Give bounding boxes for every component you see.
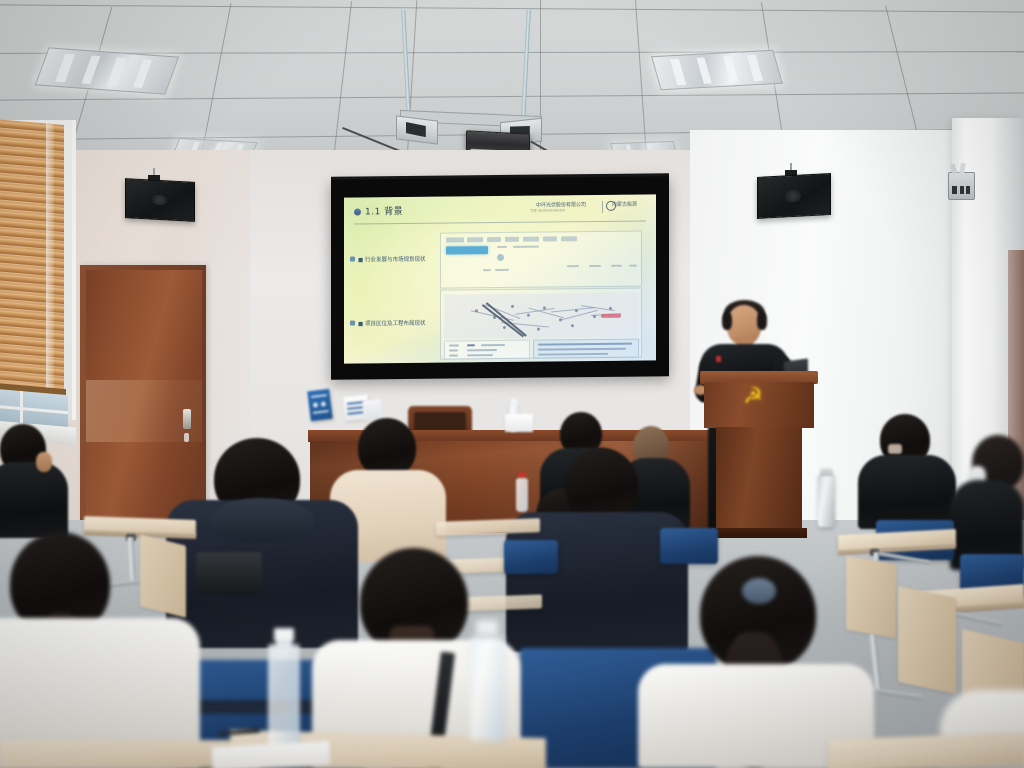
- classroom-photo-scene: 1.1 背景 中环光伏股份有限公司 TZE Semiconductor 内蒙古能…: [0, 0, 1024, 768]
- network-map-panel: [440, 288, 642, 360]
- slide-side-label-1: ■ 行业发展与市场规划现状: [358, 255, 425, 264]
- ceiling-vent-left: [396, 115, 438, 144]
- map-legend: [444, 340, 530, 360]
- presenter-hair-side-right: [757, 312, 767, 330]
- right-wall-speaker: [757, 173, 831, 219]
- wall-mounted-device: [948, 172, 975, 200]
- desk-right-modesty-panel-2: [898, 586, 956, 694]
- water-bottle-front-right: [470, 636, 504, 742]
- door-lock[interactable]: [184, 433, 189, 442]
- attendee-right-far-hairclip: [888, 444, 902, 454]
- desk-mid-left-panel: [140, 534, 186, 617]
- chair-mid-2: [504, 540, 558, 574]
- attendee-right-far-torso: [858, 455, 956, 529]
- desk-front-right: [828, 733, 1024, 768]
- bullet-dot-icon: [354, 208, 361, 215]
- slide-title: 1.1 背景: [365, 204, 403, 217]
- projected-slide: 1.1 背景 中环光伏股份有限公司 TZE Semiconductor 内蒙古能…: [344, 194, 656, 363]
- map-note-box: [533, 339, 639, 359]
- presenter-hair-side-left: [722, 312, 732, 330]
- slide-highlight-button: [446, 246, 488, 254]
- window-blinds[interactable]: [0, 119, 64, 393]
- web-ui-screenshot-panel: [440, 231, 642, 289]
- slide-logo-left-sub: TZE Semiconductor: [530, 208, 565, 212]
- map-highlight-marker: [601, 314, 621, 318]
- attendee-navy-hoodie-hood: [210, 498, 314, 542]
- chair-mid-3: [660, 528, 718, 564]
- door-handle[interactable]: [183, 409, 191, 429]
- hammer-and-sickle-emblem: ☭: [738, 385, 768, 409]
- tissue-box: [505, 414, 533, 432]
- logo-divider: [602, 201, 603, 213]
- water-bottle-front-center: [268, 644, 300, 748]
- attendee-cream-shirt-head: [358, 418, 416, 478]
- presenter-lapel-badge: [716, 356, 721, 362]
- company-mark-icon: [606, 201, 616, 211]
- attendee-left-back-torso: [0, 462, 68, 538]
- blue-placard: [307, 389, 332, 421]
- slide-side-label-2: ■ 项目区位及工程布局现状: [358, 319, 425, 328]
- chair-mid-1: [196, 552, 262, 594]
- water-bottle-mid-left: [516, 478, 528, 512]
- white-placard-2: [362, 399, 381, 420]
- attendee-left-back-hand: [36, 452, 52, 472]
- ceiling-light-2: [651, 50, 783, 90]
- desk-right-modesty-panel-1: [846, 556, 896, 639]
- student-ponytail-right-scrunchie: [742, 578, 776, 604]
- podium-column: [716, 427, 802, 537]
- left-wall-speaker: [125, 178, 195, 222]
- podium-base: [712, 528, 807, 538]
